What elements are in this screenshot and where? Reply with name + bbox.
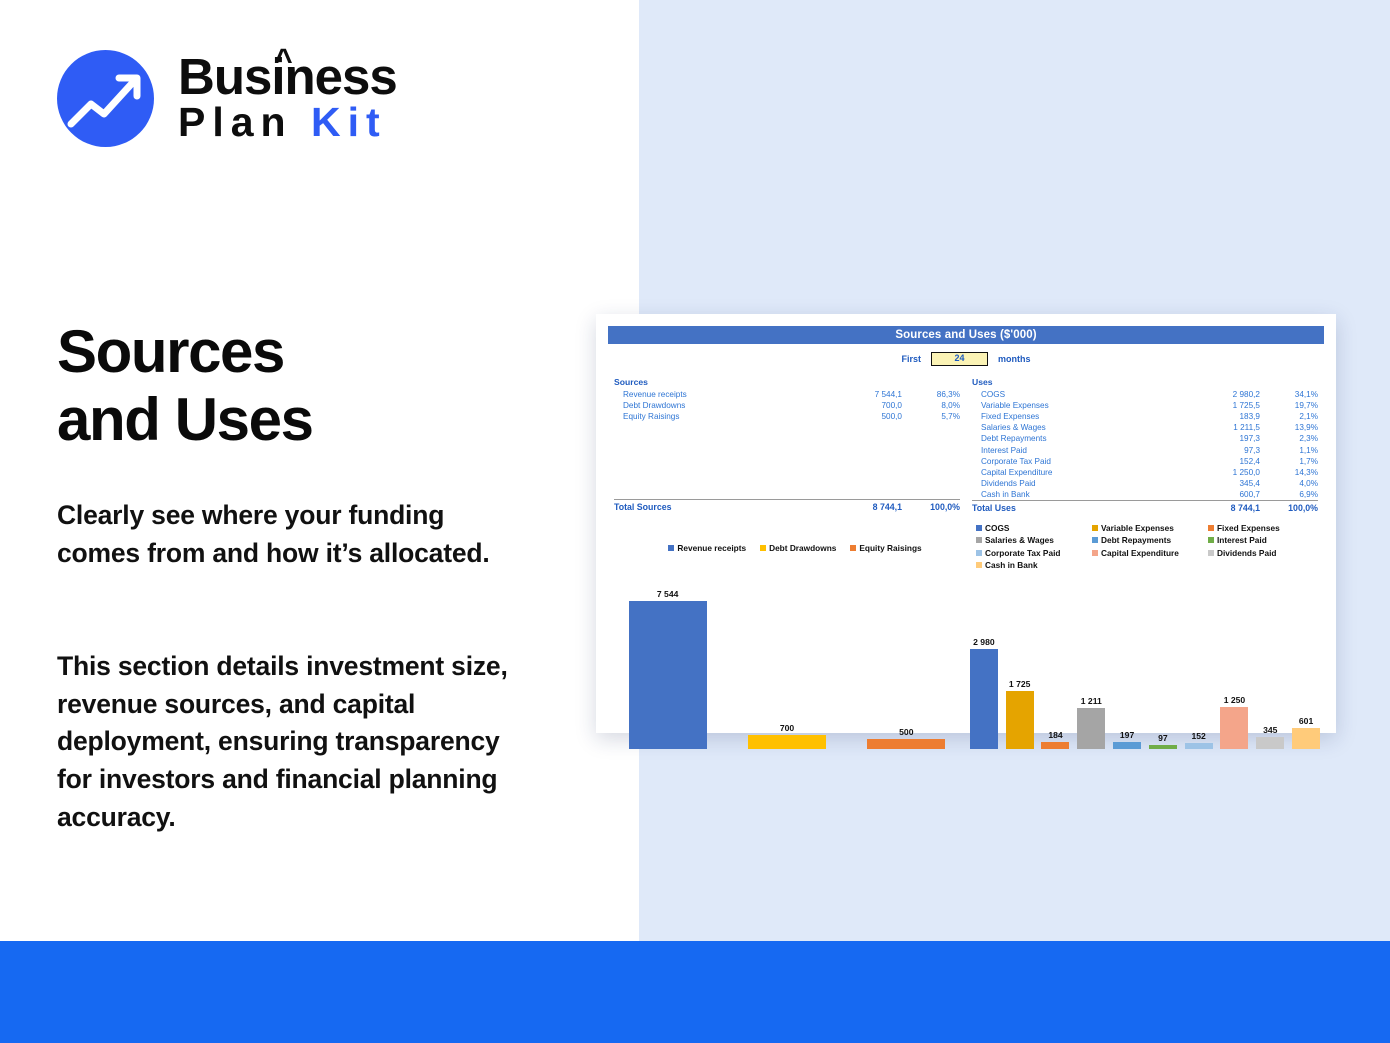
row-label: Variable Expenses xyxy=(972,400,1168,411)
legend-label: Capital Expenditure xyxy=(1101,548,1179,558)
table-row: Equity Raisings 500,0 5,7% xyxy=(614,411,960,422)
table-row: Fixed Expenses 183,9 2,1% xyxy=(972,411,1318,422)
table-row: Variable Expenses 1 725,5 19,7% xyxy=(972,400,1318,411)
legend-swatch-icon xyxy=(1092,525,1098,531)
legend-label: Revenue receipts xyxy=(677,543,746,553)
legend-label: Debt Repayments xyxy=(1101,535,1171,545)
table-row: Revenue receipts 7 544,1 86,3% xyxy=(614,389,960,400)
sheet-title: Sources and Uses ($'000) xyxy=(608,326,1324,344)
row-percent: 86,3% xyxy=(902,389,960,400)
bar-value-label: 601 xyxy=(1299,716,1313,726)
legend-item: Revenue receipts xyxy=(668,523,746,573)
uses-total-row: Total Uses 8 744,1 100,0% xyxy=(972,501,1318,515)
bar xyxy=(1006,691,1034,749)
bar-value-label: 184 xyxy=(1048,730,1062,740)
row-value: 197,3 xyxy=(1168,433,1260,444)
bar-column: 1 250 xyxy=(1220,587,1248,749)
bar-value-label: 1 250 xyxy=(1224,695,1246,705)
table-spacer xyxy=(614,422,960,499)
table-row: Corporate Tax Paid 152,4 1,7% xyxy=(972,456,1318,467)
total-value: 8 744,1 xyxy=(1168,501,1260,515)
row-value: 97,3 xyxy=(1168,445,1260,456)
paragraph-one: Clearly see where your funding comes fro… xyxy=(57,497,527,572)
uses-header: Uses xyxy=(972,376,1168,389)
bar-column: 345 xyxy=(1256,587,1284,749)
row-label: COGS xyxy=(972,389,1168,400)
row-percent: 13,9% xyxy=(1260,422,1318,433)
legend-label: Interest Paid xyxy=(1217,535,1267,545)
bar xyxy=(1292,728,1320,748)
paragraph-two: This section details investment size, re… xyxy=(57,648,527,836)
bar-column: 184 xyxy=(1041,587,1069,749)
legend-label: Salaries & Wages xyxy=(985,535,1054,545)
row-percent: 4,0% xyxy=(1260,478,1318,489)
bar-column: 7 544 xyxy=(629,587,707,749)
legend-swatch-icon xyxy=(1208,525,1214,531)
row-percent: 1,7% xyxy=(1260,456,1318,467)
legend-swatch-icon xyxy=(1092,550,1098,556)
legend-swatch-icon xyxy=(976,525,982,531)
months-input[interactable]: 24 xyxy=(931,352,988,366)
sources-and-uses-sheet: Sources and Uses ($'000) First 24 months… xyxy=(608,326,1324,722)
chart-legends: Revenue receiptsDebt DrawdownsEquity Rai… xyxy=(608,523,1324,573)
legend-label: Dividends Paid xyxy=(1217,548,1276,558)
row-label: Equity Raisings xyxy=(614,411,810,422)
legend-swatch-icon xyxy=(1208,537,1214,543)
row-label: Debt Drawdowns xyxy=(614,400,810,411)
sources-header: Sources xyxy=(614,376,810,389)
bar xyxy=(970,649,998,749)
months-suffix-label: months xyxy=(998,354,1031,364)
row-label: Salaries & Wages xyxy=(972,422,1168,433)
bar-column: 1 211 xyxy=(1077,587,1105,749)
bar-column: 152 xyxy=(1185,587,1213,749)
bar xyxy=(629,601,707,749)
legend-swatch-icon xyxy=(850,545,856,551)
row-label: Dividends Paid xyxy=(972,478,1168,489)
legend-swatch-icon xyxy=(668,545,674,551)
sources-total-row: Total Sources 8 744,1 100,0% xyxy=(614,499,960,513)
months-prefix-label: First xyxy=(901,354,921,364)
bar xyxy=(1149,745,1177,749)
row-percent: 2,3% xyxy=(1260,433,1318,444)
bar xyxy=(1041,742,1069,748)
row-percent: 34,1% xyxy=(1260,389,1318,400)
table-row: COGS 2 980,2 34,1% xyxy=(972,389,1318,400)
bar-value-label: 345 xyxy=(1263,725,1277,735)
brand-logo: Business ^ Plan Kit xyxy=(57,50,397,147)
circumflex-accent: ^ xyxy=(274,45,292,76)
legend-item: Debt Repayments xyxy=(1092,535,1208,545)
table-row: Dividends Paid 345,4 4,0% xyxy=(972,478,1318,489)
table-header-row: Sources xyxy=(614,376,960,389)
legend-swatch-icon xyxy=(760,545,766,551)
row-value: 500,0 xyxy=(810,411,902,422)
legend-label: Corporate Tax Paid xyxy=(985,548,1060,558)
legend-item: Cash in Bank xyxy=(976,560,1092,570)
legend-swatch-icon xyxy=(1208,550,1214,556)
legend-item: Corporate Tax Paid xyxy=(976,548,1092,558)
legend-swatch-icon xyxy=(976,550,982,556)
row-value: 1 250,0 xyxy=(1168,467,1260,478)
row-value: 2 980,2 xyxy=(1168,389,1260,400)
bar xyxy=(748,735,826,749)
row-percent: 2,1% xyxy=(1260,411,1318,422)
total-label: Total Uses xyxy=(972,501,1168,515)
row-percent: 6,9% xyxy=(1260,489,1318,501)
row-percent: 1,1% xyxy=(1260,445,1318,456)
row-label: Corporate Tax Paid xyxy=(972,456,1168,467)
table-header-row: Uses xyxy=(972,376,1318,389)
legend-label: Variable Expenses xyxy=(1101,523,1174,533)
uses-bar-chart: 2 9801 7251841 211197971521 250345601 xyxy=(966,579,1324,759)
bar-column: 197 xyxy=(1113,587,1141,749)
brand-name-primary: Business ^ xyxy=(178,52,397,102)
bottom-accent-bar xyxy=(0,941,1390,1043)
legend-swatch-icon xyxy=(1092,537,1098,543)
row-value: 700,0 xyxy=(810,400,902,411)
legend-label: Debt Drawdowns xyxy=(769,543,836,553)
bar-value-label: 2 980 xyxy=(973,637,995,647)
bar-value-label: 97 xyxy=(1158,733,1168,743)
bar-value-label: 7 544 xyxy=(657,589,679,599)
legend-item: Interest Paid xyxy=(1208,535,1324,545)
row-percent: 5,7% xyxy=(902,411,960,422)
bar-column: 97 xyxy=(1149,587,1177,749)
sources-column: Sources Revenue receipts 7 544,1 86,3% D… xyxy=(608,376,966,515)
bar xyxy=(1185,743,1213,748)
bar-column: 500 xyxy=(867,587,945,749)
bar xyxy=(1113,742,1141,749)
data-tables: Sources Revenue receipts 7 544,1 86,3% D… xyxy=(608,376,1324,515)
bar-value-label: 1 725 xyxy=(1009,679,1031,689)
table-row: Salaries & Wages 1 211,5 13,9% xyxy=(972,422,1318,433)
table-row: Debt Repayments 197,3 2,3% xyxy=(972,433,1318,444)
bar-value-label: 152 xyxy=(1192,731,1206,741)
table-row: Debt Drawdowns 700,0 8,0% xyxy=(614,400,960,411)
row-label: Cash in Bank xyxy=(972,489,1168,501)
row-value: 183,9 xyxy=(1168,411,1260,422)
uses-column: Uses COGS 2 980,2 34,1% Variable Expense… xyxy=(966,376,1324,515)
legend-label: Equity Raisings xyxy=(859,543,921,553)
row-percent: 19,7% xyxy=(1260,400,1318,411)
legend-swatch-icon xyxy=(976,562,982,568)
bar-value-label: 1 211 xyxy=(1081,696,1102,706)
row-label: Revenue receipts xyxy=(614,389,810,400)
legend-item: Fixed Expenses xyxy=(1208,523,1324,533)
legend-label: Fixed Expenses xyxy=(1217,523,1280,533)
page-title: Sources and Uses xyxy=(57,318,313,454)
legend-item: COGS xyxy=(976,523,1092,533)
sources-table: Sources Revenue receipts 7 544,1 86,3% D… xyxy=(614,376,960,513)
bar xyxy=(867,739,945,749)
chart-area: 7 544700500 2 9801 7251841 211197971521 … xyxy=(608,579,1324,759)
bar-column: 700 xyxy=(748,587,826,749)
bar xyxy=(1220,707,1248,749)
spreadsheet-screenshot-card: Sources and Uses ($'000) First 24 months… xyxy=(596,314,1336,733)
uses-chart-legend: COGSVariable ExpensesFixed ExpensesSalar… xyxy=(966,523,1324,573)
months-control-row: First 24 months xyxy=(608,352,1324,366)
total-percent: 100,0% xyxy=(1260,501,1318,515)
row-percent: 8,0% xyxy=(902,400,960,411)
bar-column: 1 725 xyxy=(1006,587,1034,749)
bar-value-label: 500 xyxy=(899,727,913,737)
row-value: 7 544,1 xyxy=(810,389,902,400)
bar xyxy=(1077,708,1105,749)
brand-word-kit: Kit xyxy=(311,99,387,145)
growth-arrow-icon xyxy=(57,50,154,147)
row-value: 600,7 xyxy=(1168,489,1260,501)
row-value: 152,4 xyxy=(1168,456,1260,467)
legend-label: Cash in Bank xyxy=(985,560,1038,570)
sources-bar-chart: 7 544700500 xyxy=(608,579,966,759)
brand-word-plan: Plan xyxy=(178,99,293,145)
row-label: Capital Expenditure xyxy=(972,467,1168,478)
uses-table: Uses COGS 2 980,2 34,1% Variable Expense… xyxy=(972,376,1318,515)
row-label: Debt Repayments xyxy=(972,433,1168,444)
total-percent: 100,0% xyxy=(902,499,960,513)
row-percent: 14,3% xyxy=(1260,467,1318,478)
row-value: 1 725,5 xyxy=(1168,400,1260,411)
bar xyxy=(1256,737,1284,749)
legend-item: Capital Expenditure xyxy=(1092,548,1208,558)
bar-value-label: 700 xyxy=(780,723,794,733)
legend-label: COGS xyxy=(985,523,1009,533)
sources-chart-legend: Revenue receiptsDebt DrawdownsEquity Rai… xyxy=(608,523,966,573)
legend-item: Debt Drawdowns xyxy=(760,523,836,573)
bar-column: 2 980 xyxy=(970,587,998,749)
row-value: 1 211,5 xyxy=(1168,422,1260,433)
bar-value-label: 197 xyxy=(1120,730,1134,740)
total-value: 8 744,1 xyxy=(810,499,902,513)
table-row: Capital Expenditure 1 250,0 14,3% xyxy=(972,467,1318,478)
legend-item: Salaries & Wages xyxy=(976,535,1092,545)
row-label: Fixed Expenses xyxy=(972,411,1168,422)
bar-column: 601 xyxy=(1292,587,1320,749)
total-label: Total Sources xyxy=(614,499,810,513)
table-row: Cash in Bank 600,7 6,9% xyxy=(972,489,1318,501)
legend-item: Variable Expenses xyxy=(1092,523,1208,533)
legend-swatch-icon xyxy=(976,537,982,543)
row-label: Interest Paid xyxy=(972,445,1168,456)
legend-item: Dividends Paid xyxy=(1208,548,1324,558)
row-value: 345,4 xyxy=(1168,478,1260,489)
legend-item: Equity Raisings xyxy=(850,523,921,573)
table-row: Interest Paid 97,3 1,1% xyxy=(972,445,1318,456)
brand-name-secondary: Plan Kit xyxy=(178,100,397,146)
